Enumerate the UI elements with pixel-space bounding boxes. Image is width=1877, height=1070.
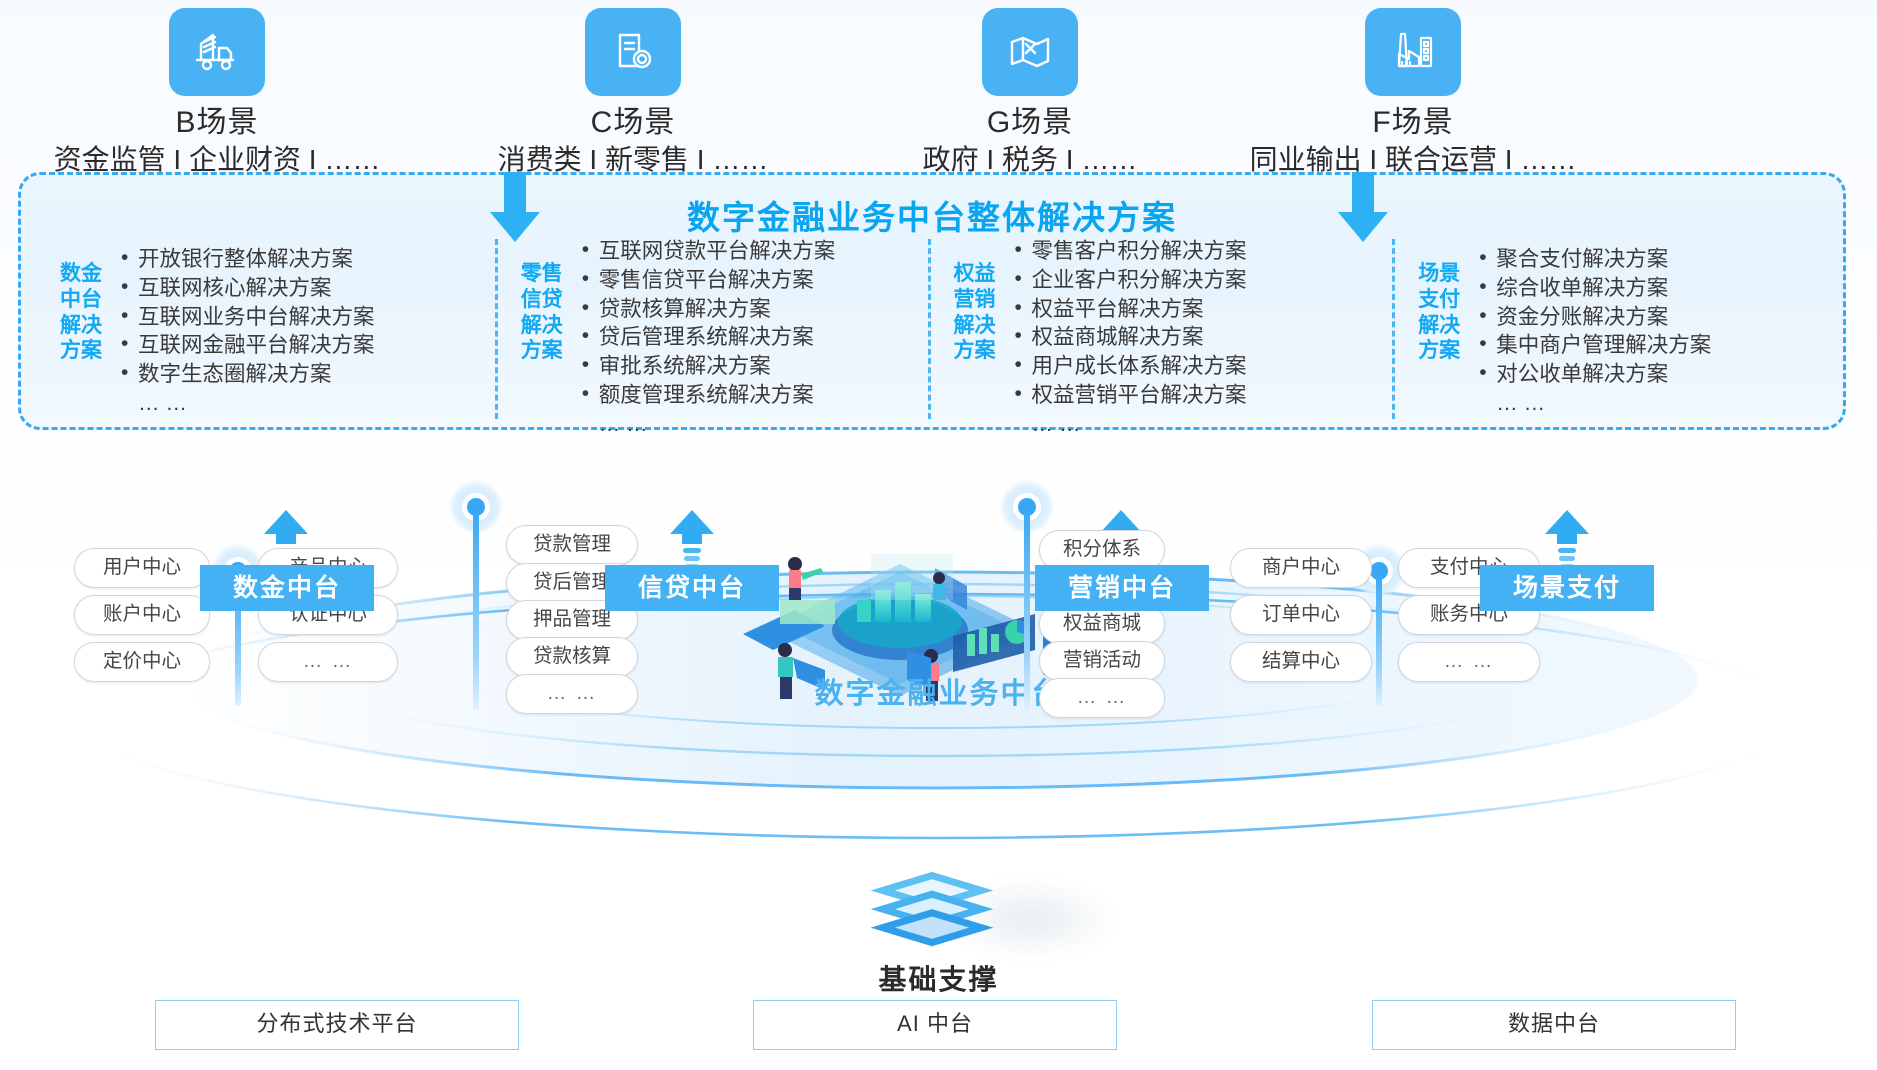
list-item: 互联网业务中台解决方案: [119, 303, 375, 332]
base-support-section: 基础支撑 分布式技术平台 AI 中台 数据中台: [0, 880, 1877, 1070]
solution-column-shujin: 数金 中台 解决 方案 开放银行整体解决方案 互联网核心解决方案 互联网业务中台…: [37, 239, 495, 419]
scenario-subtitle: 政府 I 税务 I ……: [860, 144, 1200, 176]
solution-panel: 数字金融业务中台整体解决方案 数金 中台 解决 方案 开放银行整体解决方案 互联…: [18, 172, 1846, 430]
diagram-root: B场景 资金监管 I 企业财资 I …… C场景 消费类 I 新零售 I ……: [0, 0, 1877, 1070]
chip-account-center[interactable]: 账户中心: [74, 595, 210, 635]
list-item-ellipsis: … …: [119, 389, 375, 418]
scenario-card-f[interactable]: F场景 同业输出 I 联合运营 I ……: [1243, 8, 1583, 176]
layers-stack-icon: [862, 870, 1002, 950]
list-item: 企业客户积分解决方案: [1013, 266, 1247, 295]
chip-more-payment[interactable]: … …: [1398, 642, 1540, 682]
scenario-title: F场景: [1243, 106, 1583, 141]
list-item: 互联网金融平台解决方案: [119, 331, 375, 360]
scenario-subtitle: 资金监管 I 企业财资 I ……: [47, 144, 387, 176]
list-item: 权益营销平台解决方案: [1013, 381, 1247, 410]
map-folded-icon: [982, 8, 1078, 96]
list-item: 用户成长体系解决方案: [1013, 352, 1247, 381]
chip-settlement-center[interactable]: 结算中心: [1230, 642, 1372, 682]
scenario-subtitle: 消费类 I 新零售 I ……: [463, 144, 803, 176]
down-arrow-icon: [488, 172, 542, 246]
column-items: 零售客户积分解决方案 企业客户积分解决方案 权益平台解决方案 权益商城解决方案 …: [1009, 237, 1247, 439]
list-item: 开放银行整体解决方案: [119, 245, 375, 274]
list-item: 综合收单解决方案: [1477, 274, 1711, 303]
solution-column-credit: 零售 信贷 解决 方案 互联网贷款平台解决方案 零售信贷平台解决方案 贷款核算解…: [495, 239, 928, 419]
platform-tag-shujin[interactable]: 数金中台: [200, 565, 374, 611]
chip-order-center[interactable]: 订单中心: [1230, 595, 1372, 635]
list-item: 集中商户管理解决方案: [1477, 331, 1711, 360]
chip-more-marketing[interactable]: … …: [1039, 678, 1165, 718]
scenario-card-b[interactable]: B场景 资金监管 I 企业财资 I ……: [47, 8, 387, 176]
platform-tag-marketing[interactable]: 营销中台: [1035, 565, 1209, 611]
base-support-label: 基础支撑: [0, 958, 1877, 998]
platform-tag-payment[interactable]: 场景支付: [1480, 565, 1654, 611]
scenario-subtitle: 同业输出 I 联合运营 I ……: [1243, 144, 1583, 176]
up-arrow-icon: [669, 510, 715, 570]
solution-columns: 数金 中台 解决 方案 开放银行整体解决方案 互联网核心解决方案 互联网业务中台…: [37, 239, 1833, 419]
list-item: 对公收单解决方案: [1477, 360, 1711, 389]
list-item: 零售客户积分解决方案: [1013, 237, 1247, 266]
base-box-data-platform[interactable]: 数据中台: [1372, 1000, 1736, 1050]
chip-marketing-campaign[interactable]: 营销活动: [1039, 641, 1165, 681]
list-item: 贷后管理系统解决方案: [580, 323, 836, 352]
up-arrow-icon: [1544, 510, 1590, 570]
list-item: 互联网核心解决方案: [119, 274, 375, 303]
down-arrow-icon: [1336, 172, 1390, 246]
chip-user-center[interactable]: 用户中心: [74, 548, 210, 588]
base-box-ai-platform[interactable]: AI 中台: [753, 1000, 1117, 1050]
platform-tag-credit[interactable]: 信贷中台: [605, 565, 779, 611]
scenario-title: B场景: [47, 106, 387, 141]
scenario-title: C场景: [463, 106, 803, 141]
panel-title: 数字金融业务中台整体解决方案: [21, 191, 1843, 239]
column-items: 互联网贷款平台解决方案 零售信贷平台解决方案 贷款核算解决方案 贷后管理系统解决…: [576, 237, 836, 439]
column-label: 零售 信贷 解决 方案: [512, 261, 572, 364]
column-items: 开放银行整体解决方案 互联网核心解决方案 互联网业务中台解决方案 互联网金融平台…: [115, 245, 375, 418]
column-label: 数金 中台 解决 方案: [51, 261, 111, 364]
list-item: 权益平台解决方案: [1013, 295, 1247, 324]
chip-more-credit[interactable]: … …: [506, 674, 638, 714]
scenario-title: G场景: [860, 106, 1200, 141]
list-item: 额度管理系统解决方案: [580, 381, 836, 410]
scenario-card-g[interactable]: G场景 政府 I 税务 I ……: [860, 8, 1200, 176]
list-item-ellipsis: … …: [580, 410, 836, 439]
document-search-icon: [585, 8, 681, 96]
list-item: 资金分账解决方案: [1477, 303, 1711, 332]
list-item-ellipsis: … …: [1013, 410, 1247, 439]
solution-column-payment: 场景 支付 解决 方案 聚合支付解决方案 综合收单解决方案 资金分账解决方案 集…: [1392, 239, 1833, 419]
base-box-distributed-platform[interactable]: 分布式技术平台: [155, 1000, 519, 1050]
list-item: 聚合支付解决方案: [1477, 245, 1711, 274]
chip-more-shujin[interactable]: … …: [258, 642, 398, 682]
list-item-ellipsis: … …: [1477, 389, 1711, 418]
list-item: 数字生态圈解决方案: [119, 360, 375, 389]
scenario-row: B场景 资金监管 I 企业财资 I …… C场景 消费类 I 新零售 I ……: [0, 0, 1877, 176]
scenario-card-c[interactable]: C场景 消费类 I 新零售 I ……: [463, 8, 803, 176]
list-item: 权益商城解决方案: [1013, 323, 1247, 352]
chip-loan-management[interactable]: 贷款管理: [506, 525, 638, 565]
list-item: 互联网贷款平台解决方案: [580, 237, 836, 266]
column-items: 聚合支付解决方案 综合收单解决方案 资金分账解决方案 集中商户管理解决方案 对公…: [1473, 245, 1711, 418]
truck-chart-icon: [169, 8, 265, 96]
list-item: 贷款核算解决方案: [580, 295, 836, 324]
chip-points-system[interactable]: 积分体系: [1039, 530, 1165, 570]
chip-pricing-center[interactable]: 定价中心: [74, 642, 210, 682]
chip-loan-accounting[interactable]: 贷款核算: [506, 637, 638, 677]
column-label: 场景 支付 解决 方案: [1409, 261, 1469, 364]
column-label: 权益 营销 解决 方案: [945, 261, 1005, 364]
factory-icon: [1365, 8, 1461, 96]
list-item: 审批系统解决方案: [580, 352, 836, 381]
solution-column-marketing: 权益 营销 解决 方案 零售客户积分解决方案 企业客户积分解决方案 权益平台解决…: [928, 239, 1393, 419]
chip-merchant-center[interactable]: 商户中心: [1230, 548, 1372, 588]
list-item: 零售信贷平台解决方案: [580, 266, 836, 295]
